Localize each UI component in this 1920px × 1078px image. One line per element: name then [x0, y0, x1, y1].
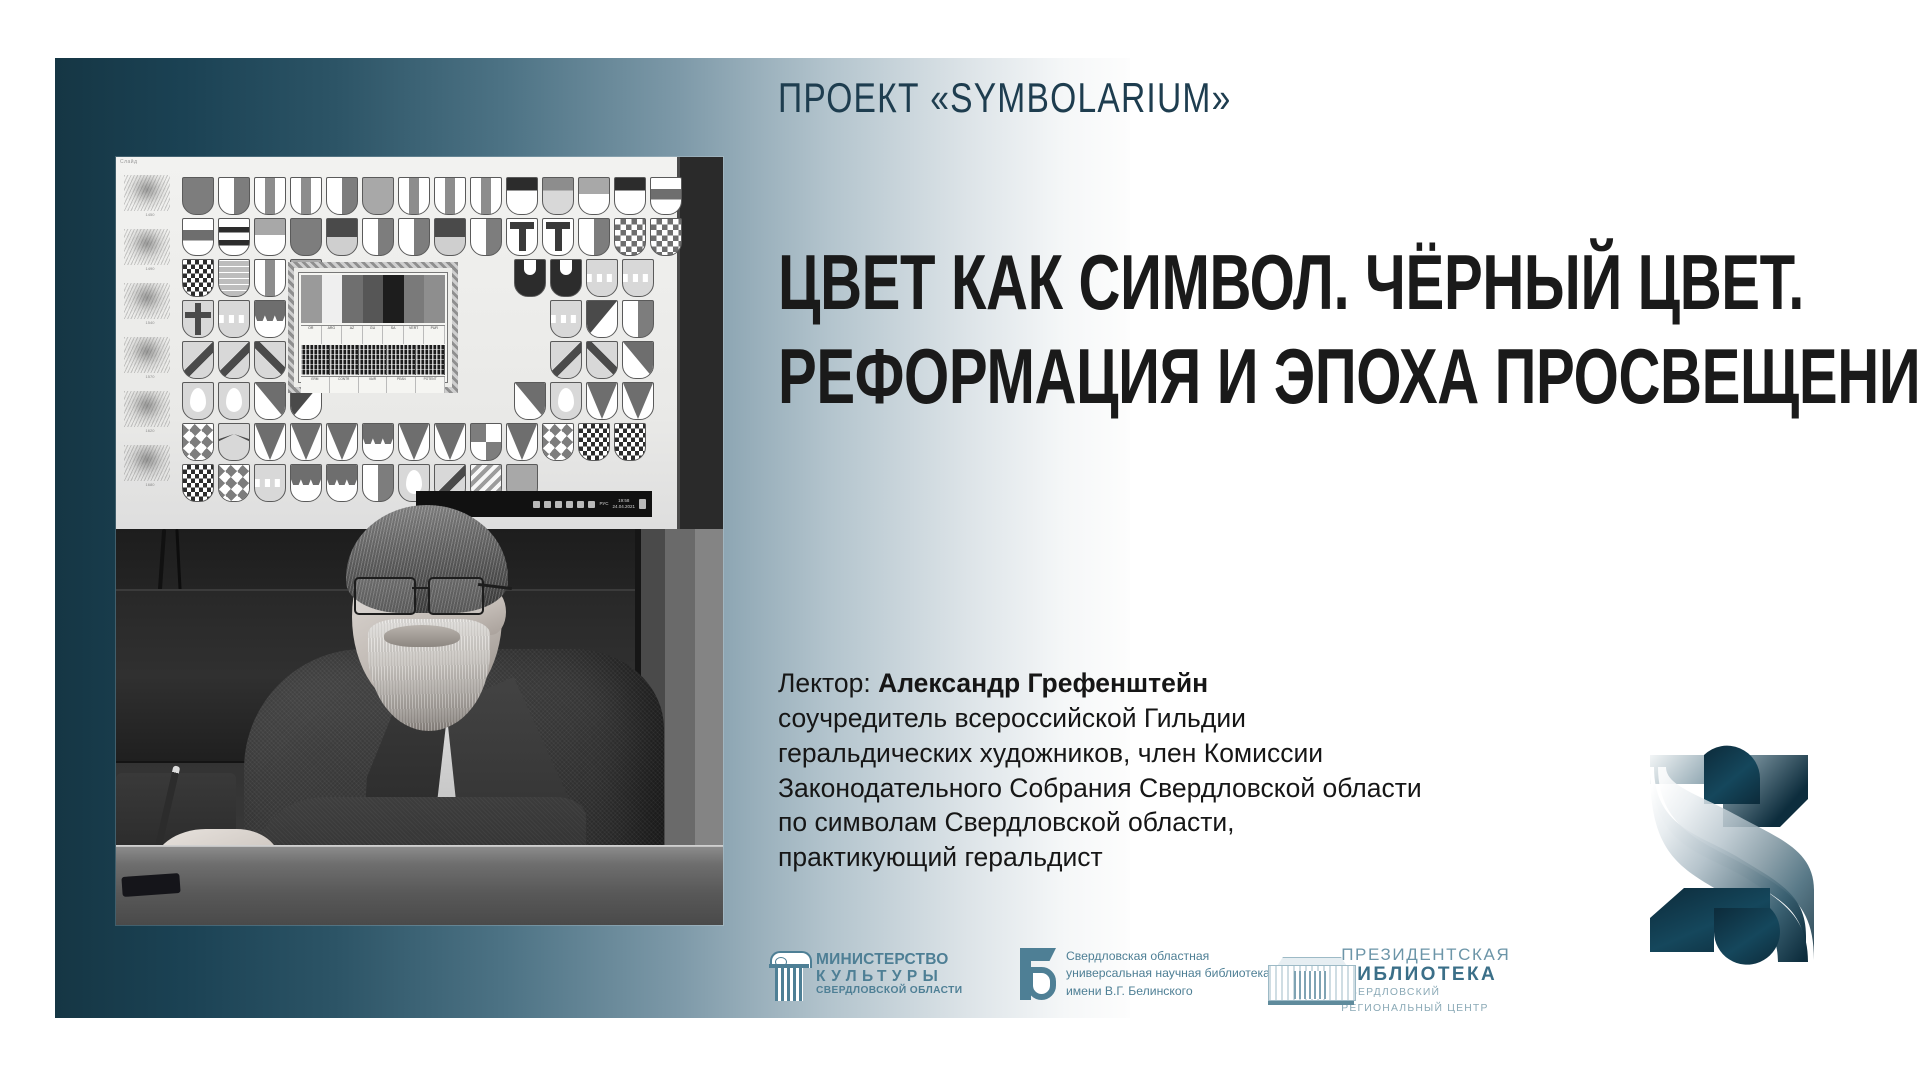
title-line-2: РЕФОРМАЦИЯ И ЭПОХА ПРОСВЕЩЕНИЯ — [778, 330, 1612, 424]
lecturer-bio-line: Законодательного Собрания Свердловской о… — [778, 771, 1618, 806]
lecturer-prefix: Лектор: — [778, 668, 878, 698]
phone — [121, 873, 180, 897]
photo-content: Слайд 1450 1490 1540 1570 1620 1680 — [116, 157, 723, 925]
logo-line-2: БИБЛИОТЕКА — [1341, 964, 1531, 985]
lecturer-name-line: Лектор: Александр Грефенштейн — [778, 666, 1618, 701]
building-icon — [1268, 957, 1333, 1005]
glasses-icon — [352, 577, 502, 613]
s-logo-top-knob — [1704, 746, 1760, 804]
lecturer-bio-line: по символам Свердловской области, — [778, 805, 1618, 840]
logo-line-2: универсальная научная библиотека — [1066, 965, 1270, 983]
partner-logos: МИНИСТЕРСТВО КУЛЬТУРЫ СВЕРДЛОВСКОЙ ОБЛАС… — [770, 945, 1510, 1007]
logo-belinsky-library[interactable]: Свердловская областная универсальная нау… — [1018, 947, 1270, 1001]
logo-presidential-library[interactable]: ПРЕЗИДЕНТСКАЯ БИБЛИОТЕКА СВЕРДЛОВСКИЙ РЕ… — [1268, 945, 1531, 1017]
belinsky-b-monogram-icon — [1018, 947, 1058, 1001]
column-icon — [770, 949, 808, 1001]
moustache — [384, 625, 460, 647]
logo-line-3: СВЕРДЛОВСКИЙ РЕГИОНАЛЬНЫЙ ЦЕНТР — [1341, 985, 1531, 1016]
logo-line-2: КУЛЬТУРЫ — [816, 968, 963, 986]
lecturer-figure — [116, 157, 723, 925]
s-logo-bottom-knob — [1714, 908, 1780, 965]
logo-line-1: Свердловская областная — [1066, 948, 1270, 966]
symbolarium-s-logo — [1628, 722, 1868, 972]
project-label: ПРОЕКТ «SYMBOLARIUM» — [778, 74, 1231, 122]
lecturer-bio-line: геральдических художников, член Комиссии — [778, 736, 1618, 771]
logo-line-3: имени В.Г. Белинского — [1066, 983, 1270, 1001]
lecturer-info: Лектор: Александр Грефенштейн соучредите… — [778, 666, 1618, 875]
title-line-1: ЦВЕТ КАК СИМВОЛ. ЧЁРНЫЙ ЦВЕТ. — [778, 236, 1612, 330]
logo-line-3: СВЕРДЛОВСКОЙ ОБЛАСТИ — [816, 985, 963, 998]
logo-ministry-of-culture[interactable]: МИНИСТЕРСТВО КУЛЬТУРЫ СВЕРДЛОВСКОЙ ОБЛАС… — [770, 949, 963, 1001]
logo-line-1: ПРЕЗИДЕНТСКАЯ — [1341, 945, 1531, 964]
lecturer-bio-line: соучредитель всероссийской Гильдии — [778, 701, 1618, 736]
lecturer-bio-line: практикующий геральдист — [778, 840, 1618, 875]
lecturer-name: Александр Грефенштейн — [878, 668, 1208, 698]
lecture-photo: Слайд 1450 1490 1540 1570 1620 1680 — [116, 157, 723, 925]
table — [116, 847, 723, 925]
logo-line-1: МИНИСТЕРСТВО — [816, 952, 963, 968]
page-title: ЦВЕТ КАК СИМВОЛ. ЧЁРНЫЙ ЦВЕТ. РЕФОРМАЦИЯ… — [778, 236, 1898, 423]
